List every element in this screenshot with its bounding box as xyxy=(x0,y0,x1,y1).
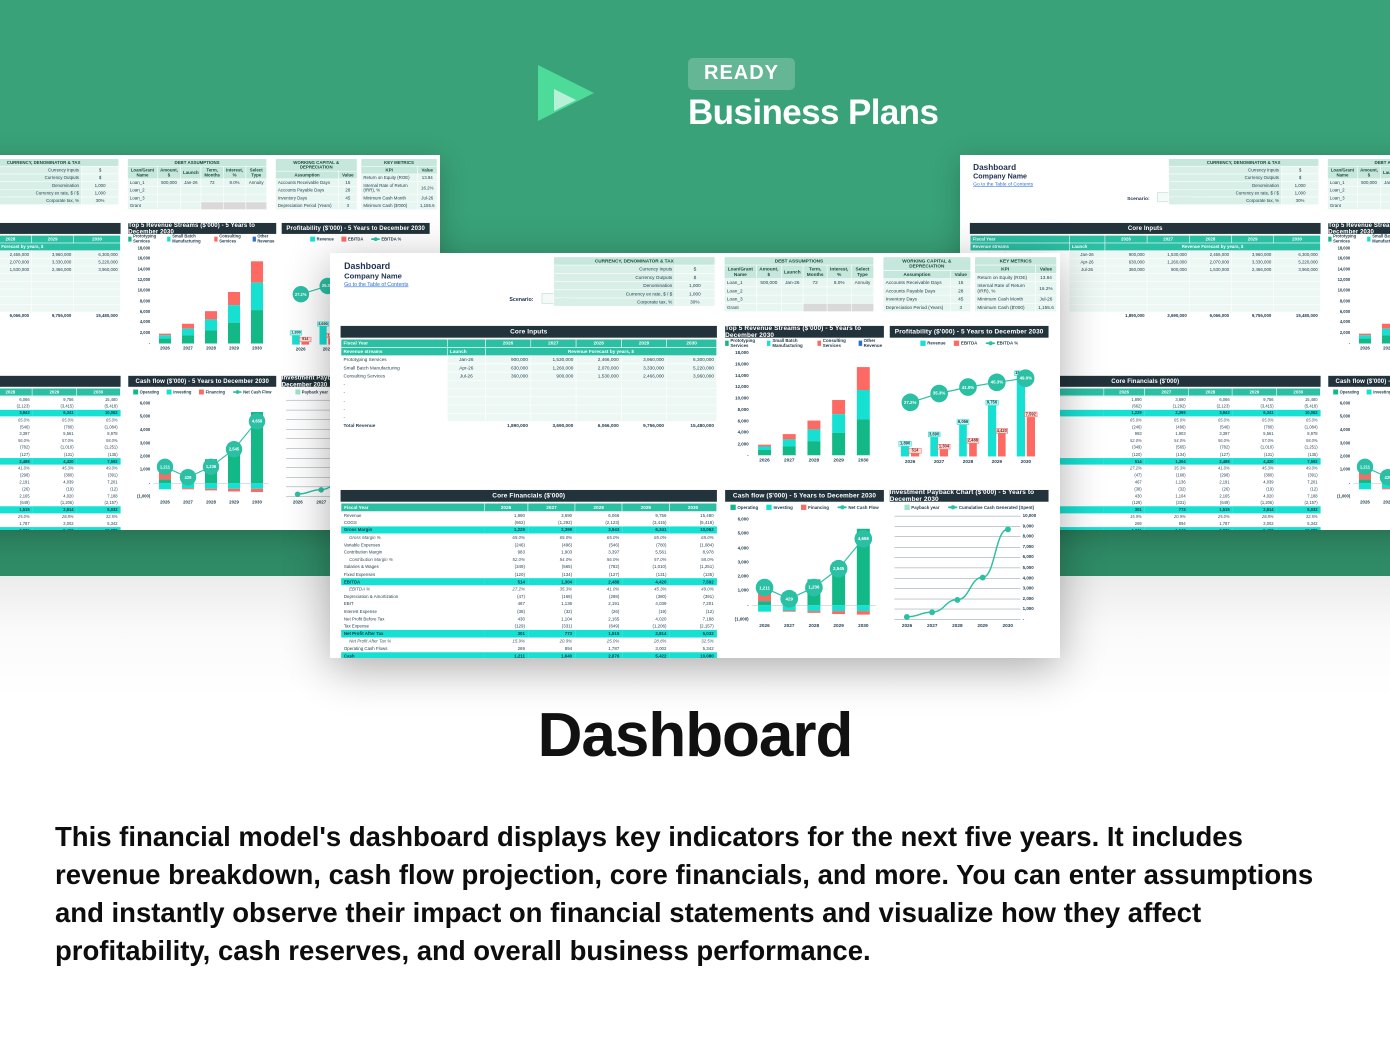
y-tick: 10,000 xyxy=(725,395,749,400)
section-top5-revenue: Top 5 Revenue Streams ($'000) - 5 Years … xyxy=(725,326,884,338)
data-point xyxy=(929,609,935,615)
financial-row: Contribution Margin %52.0%54.0%56.0%57.0… xyxy=(341,556,717,563)
bar-segment xyxy=(808,441,821,455)
bar-stack xyxy=(182,324,194,344)
ebitda-pct-label: 41.0% xyxy=(959,378,977,396)
financial-row: Depreciation & Amortization(47)(168)(298… xyxy=(0,472,120,479)
x-tick: 2026 xyxy=(752,623,777,628)
chart-top5-revenue[interactable]: Prototyping ServicesSmall Batch Manufact… xyxy=(1328,235,1390,372)
legend-item: Consulting Services xyxy=(818,338,851,349)
debt-table-header: Launch xyxy=(181,166,202,179)
chart-legend: RevenueEBITDAEBITDA % xyxy=(890,339,1049,347)
financial-row: Depreciation & Amortization(47)(168)(298… xyxy=(341,593,717,600)
working-capital-table-row: Accounts Payable Days28 xyxy=(275,187,357,195)
x-tick: 2026 xyxy=(1353,346,1376,351)
year-header: 2028 xyxy=(576,339,621,347)
legend-item: EBITDA xyxy=(341,236,363,241)
chart-legend: Prototyping ServicesSmall Batch Manufact… xyxy=(725,339,884,347)
working-capital-table-row: Accounts Receivable Days15 xyxy=(883,279,971,287)
financial-row: Contribution Margin9831,9033,3975,5618,9… xyxy=(0,430,120,437)
data-point xyxy=(295,491,300,496)
bar-stack xyxy=(857,367,870,455)
x-tick: 2029 xyxy=(223,500,246,505)
sheet-header: DashboardCompany NameGo to the Table of … xyxy=(0,155,440,220)
legend-item: EBITDA % xyxy=(986,340,1019,345)
legend-item: Prototyping Services xyxy=(1328,234,1359,244)
bar-stack xyxy=(1359,334,1371,344)
forecast-header: Revenue Forecast by years, $ xyxy=(485,347,716,355)
y-tick: 6,000 xyxy=(128,309,150,314)
year-header: 2029 xyxy=(32,235,74,243)
data-point xyxy=(904,614,910,620)
bar-segment xyxy=(1382,335,1390,343)
bar-segment xyxy=(182,335,194,343)
financial-row: Fixed Expenses(120)(134)(127)(131)(135) xyxy=(341,571,717,578)
legend-item: Financing xyxy=(199,389,225,394)
bar-segment xyxy=(159,339,171,344)
currency-table-row: Currency ex rate, $ / $1,000 xyxy=(1169,189,1319,197)
revenue-stream-row: - xyxy=(0,304,120,312)
chart-legend: OperatingInvestingFinancingNet Cash Flow xyxy=(128,388,276,396)
year-header: 2026 xyxy=(485,339,530,347)
year-header: 2027 xyxy=(528,503,575,511)
chart-cash-flow[interactable]: OperatingInvestingFinancingNet Cash Flow… xyxy=(128,388,276,525)
y-tick: 8,000 xyxy=(725,407,749,412)
financial-row: Fixed Expenses(120)(134)(127)(131)(135) xyxy=(0,451,120,458)
debt-table-title: DEBT ASSUMPTIONS xyxy=(1327,159,1390,167)
legend-item: Cumulative Cash Generated (Spent) xyxy=(948,504,1034,509)
x-axis: 20262027202820292030 xyxy=(752,458,875,463)
legend-item: Revenue xyxy=(310,236,334,241)
brand-title: Business Plans xyxy=(688,94,938,132)
x-tick: 2029 xyxy=(223,346,246,351)
x-tick: 2026 xyxy=(286,500,309,505)
x-tick: 2030 xyxy=(246,346,269,351)
section-cash-flow: Cash flow ($'000) - 5 Years to December … xyxy=(1328,376,1390,387)
revenue-stream-row: - xyxy=(341,413,717,421)
revenue-stream-row: - xyxy=(341,397,717,405)
revenue-stream-row: Prototyping ServicesJan-26900,0001,530,0… xyxy=(341,356,717,364)
debt-table-row: Loan_2 xyxy=(127,187,266,195)
working-capital-table: WORKING CAPITAL & DEPRECIATIONAssumption… xyxy=(275,158,357,210)
sheet-header: DashboardCompany NameGo to the Table of … xyxy=(330,253,1059,322)
key-metrics-table-row: Return on Equity (ROE)13.84 xyxy=(975,273,1057,281)
y-tick: 18,000 xyxy=(1328,245,1350,250)
currency-table-title: CURRENCY, DENOMINATOR & TAX xyxy=(0,159,119,167)
key-metrics-table-row: Internal Rate of Return (IRR), %16.2% xyxy=(361,182,437,195)
revenue-stream-row: - xyxy=(341,380,717,388)
x-tick: 2028 xyxy=(802,458,827,463)
brand-logo: READY Business Plans xyxy=(530,58,938,132)
x-tick: 2026 xyxy=(894,623,919,628)
y-tick: 16,000 xyxy=(725,361,749,366)
section-investment-payback: Investment Payback Chart ($'000) - 5 Yea… xyxy=(890,490,1049,502)
chart-legend: Prototyping ServicesSmall Batch Manufact… xyxy=(1328,235,1390,243)
chart-cash-flow[interactable]: OperatingInvestingFinancingNet Cash Flow… xyxy=(725,503,884,650)
revenue-stream-row: Consulting ServicesJul-26360,000900,0001… xyxy=(0,266,120,274)
section-core-inputs: Core Inputs xyxy=(970,223,1321,234)
y-tick: 4,000 xyxy=(128,320,150,325)
financial-row: EBIT4671,1362,1914,0397,201 xyxy=(341,600,717,607)
revenue-streams-header: Revenue streams xyxy=(341,347,447,355)
currency-table-row: Currency Inputs$ xyxy=(554,265,715,273)
y-tick: - xyxy=(725,452,749,457)
bar-segment xyxy=(832,400,845,414)
x-axis: 20262027202820292030 xyxy=(752,623,875,628)
data-point xyxy=(1005,526,1011,532)
x-tick: 2027 xyxy=(176,346,199,351)
bar-stack xyxy=(228,292,240,344)
y-tick: 2,000 xyxy=(725,441,749,446)
revenue-stream-row: Consulting ServicesJul-26360,000900,0001… xyxy=(341,372,717,380)
x-axis: 20262027202820292030 xyxy=(153,500,268,505)
financial-row: Net Profit After Tax %15.9%20.9%25.0%28.… xyxy=(341,637,717,644)
forecast-header: Revenue Forecast by years, $ xyxy=(1105,243,1321,251)
x-tick: 2030 xyxy=(851,458,876,463)
currency-table-title: CURRENCY, DENOMINATOR & TAX xyxy=(1169,159,1319,167)
x-tick: 2030 xyxy=(1011,459,1040,464)
x-tick: 2027 xyxy=(1376,500,1390,505)
working-capital-table-row: Depreciation Period (Years)3 xyxy=(883,303,971,311)
section-top5-revenue: Top 5 Revenue Streams ($'000) - 5 Years … xyxy=(128,223,276,234)
debt-table-header: Term, Months xyxy=(803,265,827,279)
x-tick: 2029 xyxy=(826,623,851,628)
bar-segment xyxy=(783,447,796,456)
legend-item: Consulting Services xyxy=(214,234,244,244)
y-tick: - xyxy=(1328,341,1350,346)
revenue-stream-row: Prototyping ServicesJan-26900,0001,530,0… xyxy=(0,251,120,259)
y-tick: 14,000 xyxy=(128,267,150,272)
bar-segment xyxy=(783,439,796,446)
working-capital-table-row: Accounts Receivable Days15 xyxy=(275,179,357,187)
x-tick: 2027 xyxy=(1376,346,1390,351)
currency-table-row: Currency Inputs$ xyxy=(0,166,119,174)
legend-item: Other Revenue xyxy=(253,234,277,244)
x-tick: 2030 xyxy=(851,623,876,628)
currency-table-row: Corporate tax, %30% xyxy=(0,197,119,205)
y-tick: 6,000 xyxy=(725,418,749,423)
x-tick: 2027 xyxy=(176,500,199,505)
total-revenue-row: Total Revenue1,890,0003,690,0006,066,000… xyxy=(0,312,120,320)
financial-row: Salaries & Wages(349)(565)(782)(1,010)(1… xyxy=(0,444,120,451)
toc-link[interactable]: Go to the Table of Contents xyxy=(973,181,1033,186)
ebitda-pct-label: 35.3% xyxy=(930,385,948,403)
currency-table-row: Currency ex rate, $ / $1,000 xyxy=(554,290,715,298)
sheet-header: DashboardCompany NameGo to the Table of … xyxy=(960,155,1390,220)
revenue-stream-row: Small Batch ManufacturingApr-26630,0001,… xyxy=(0,258,120,266)
working-capital-table-header: Value xyxy=(339,171,357,179)
y-tick: 10,000 xyxy=(128,288,150,293)
y-tick: 6,000 xyxy=(1328,309,1350,314)
net-cash-label: 429 xyxy=(1380,469,1390,485)
x-tick: 2029 xyxy=(826,458,851,463)
year-header: 2030 xyxy=(1274,235,1321,243)
launch-header: Launch xyxy=(1069,243,1104,251)
year-header: 2030 xyxy=(76,388,120,396)
year-header: 2028 xyxy=(0,388,32,396)
net-cash-label: 1,236 xyxy=(805,579,823,597)
legend-item: Operating xyxy=(133,389,159,394)
financial-row: Gross Margin1,2292,3993,9436,34110,062 xyxy=(0,410,120,417)
legend-item: Small Batch Manufacturing xyxy=(1367,234,1390,244)
financial-row: Cash1,2111,6402,8765,42210,080 xyxy=(0,527,120,530)
year-header: 2027 xyxy=(1144,388,1188,396)
section-core-inputs: Core Inputs xyxy=(341,326,717,338)
debt-table: DEBT ASSUMPTIONSLoan/Grant NameAmount, $… xyxy=(724,257,874,312)
fiscal-year-header: Fiscal Year xyxy=(341,339,447,347)
legend-item: Small Batch Manufacturing xyxy=(167,234,206,244)
revenue-stream-row: - xyxy=(0,274,120,282)
legend-item: Payback year xyxy=(904,504,939,509)
debt-table-row: Loan_1500,000Jan-26728.0%Annuity xyxy=(1327,179,1390,187)
x-axis: 20262027202820292030 xyxy=(1353,500,1390,505)
debt-table-header: Term, Months xyxy=(201,166,223,179)
year-header: 2028 xyxy=(1188,388,1232,396)
year-header: 2030 xyxy=(667,339,717,347)
bar-stack xyxy=(159,334,171,344)
financial-row: Net Profit After Tax %15.9%20.9%25.0%28.… xyxy=(0,513,120,520)
x-tick: 2027 xyxy=(920,623,945,628)
bar-segment xyxy=(205,319,217,330)
financial-row: Variable Expenses(246)(496)(546)(780)(1,… xyxy=(341,541,717,548)
y-tick: 12,000 xyxy=(128,277,150,282)
y-tick: 12,000 xyxy=(1328,277,1350,282)
debt-table-header: Interest, % xyxy=(827,265,851,279)
x-axis: 20262027202820292030 xyxy=(896,459,1041,464)
bar-segment xyxy=(182,329,194,336)
debt-table-row: Loan_3 xyxy=(127,194,266,202)
bar-segment xyxy=(808,430,821,442)
y-tick: 12,000 xyxy=(725,384,749,389)
bar-segment xyxy=(758,450,771,455)
debt-table-row: Grant xyxy=(724,303,873,311)
debt-table-title: DEBT ASSUMPTIONS xyxy=(724,257,873,265)
debt-table-header: Interest, % xyxy=(223,166,246,179)
debt-table-row: Loan_1500,000Jan-26728.0%Annuity xyxy=(724,279,873,287)
forecast-header: Revenue Forecast by years, $ xyxy=(0,243,120,251)
net-cash-flow-line xyxy=(1328,397,1390,509)
year-header: 2029 xyxy=(1232,235,1274,243)
debt-table-row: Loan_2 xyxy=(1327,187,1390,195)
debt-table-title: DEBT ASSUMPTIONS xyxy=(127,159,266,167)
section-profitability: Profitability ($'000) - 5 Years to Decem… xyxy=(282,223,430,234)
y-tick: 14,000 xyxy=(1328,267,1350,272)
financial-row: EBIT4671,1362,1914,0397,201 xyxy=(0,479,120,486)
legend-item: Payback year xyxy=(295,389,328,394)
bar-segment xyxy=(205,330,217,343)
financial-row: Interest Expense(38)(32)(26)(19)(12) xyxy=(0,486,120,493)
revenue-stream-row: - xyxy=(341,405,717,413)
legend-item: Investing xyxy=(167,389,192,394)
ready-badge: READY xyxy=(688,58,795,90)
revenue-stream-row: Small Batch ManufacturingApr-26630,0001,… xyxy=(341,364,717,372)
chart-top5-revenue[interactable]: Prototyping ServicesSmall Batch Manufact… xyxy=(725,339,884,486)
legend-item: Revenue xyxy=(920,340,945,345)
scenario-label: Scenario: xyxy=(509,297,533,303)
key-metrics-table-row: Minimum Cash MonthJul-26 xyxy=(361,194,437,202)
chart-profitability[interactable]: RevenueEBITDAEBITDA %1,8905143,6901,3046… xyxy=(890,339,1049,486)
currency-table-row: Denomination1,000 xyxy=(0,182,119,190)
fiscal-year-header: Fiscal Year xyxy=(341,503,484,511)
legend-item: Financing xyxy=(801,504,829,509)
section-core-inputs: Core Inputs xyxy=(0,223,121,234)
bar-stack xyxy=(832,400,845,455)
debt-table-row: Grant xyxy=(1327,202,1390,210)
x-tick: 2026 xyxy=(153,500,176,505)
chart-legend: Payback yearCumulative Cash Generated (S… xyxy=(890,503,1049,511)
toc-link[interactable]: Go to the Table of Contents xyxy=(344,281,408,287)
bar-segment xyxy=(1382,329,1390,336)
screenshot-panel-center[interactable]: DashboardCompany NameGo to the Table of … xyxy=(330,253,1060,658)
debt-table-header: Loan/Grant Name xyxy=(724,265,756,279)
sheet-title: Dashboard xyxy=(344,261,390,271)
legend-item: EBITDA xyxy=(954,340,977,345)
ebitda-pct-label: 27.2% xyxy=(901,394,919,412)
key-metrics-table-row: Minimum Cash ($'000)1,155.6 xyxy=(361,202,437,210)
financial-row: Net Profit After Tax3017731,5152,8145,03… xyxy=(341,630,717,637)
year-header: 2030 xyxy=(669,503,716,511)
y-tick: 4,000 xyxy=(1328,320,1350,325)
debt-table-row: Loan_3 xyxy=(724,295,873,303)
key-metrics-table: KEY METRICSKPIValueReturn on Equity (ROE… xyxy=(974,257,1056,312)
revenue-stream-row: - xyxy=(0,281,120,289)
x-axis: 20262027202820292030 xyxy=(894,623,1020,628)
financial-row: Net Profit Before Tax4301,1042,1654,0207… xyxy=(341,615,717,622)
bar-segment xyxy=(228,292,240,305)
spreadsheet-dashboard[interactable]: DashboardCompany NameGo to the Table of … xyxy=(330,253,1059,658)
core-financials-table: Fiscal Year20262027202820292030Revenue1,… xyxy=(341,503,717,658)
y-tick: 18,000 xyxy=(725,350,749,355)
bar-segment xyxy=(251,282,263,310)
section-cash-flow: Cash flow ($'000) - 5 Years to December … xyxy=(128,376,276,387)
net-cash-label: 2,545 xyxy=(830,560,848,578)
chart-top5-revenue[interactable]: Prototyping ServicesSmall Batch Manufact… xyxy=(128,235,276,372)
debt-table-header: Select Type xyxy=(246,166,267,179)
financial-row: Cash1,2111,6402,8765,42210,080 xyxy=(341,652,717,658)
legend-item: Net Cash Flow xyxy=(233,389,272,394)
debt-table-header: Loan/Grant Name xyxy=(1327,166,1357,179)
working-capital-table-title: WORKING CAPITAL & DEPRECIATION xyxy=(275,159,357,172)
key-metrics-table-title: KEY METRICS xyxy=(975,257,1057,265)
bar-segment xyxy=(857,367,870,390)
section-core-financials: Core Financials ($'000) xyxy=(0,376,121,387)
bar-segment xyxy=(228,323,240,344)
year-header: 2026 xyxy=(1104,388,1145,396)
y-tick: 8,000 xyxy=(1328,298,1350,303)
working-capital-table-header: Assumption xyxy=(275,171,338,179)
financial-row: EBITDA %27.2%35.3%41.0%45.3%49.0% xyxy=(341,585,717,592)
bar-segment xyxy=(857,419,870,455)
x-tick: 2028 xyxy=(945,623,970,628)
financial-row: EBITDA5141,3042,4884,4207,592 xyxy=(0,458,120,465)
debt-table-header: Amount, $ xyxy=(157,166,180,179)
debt-table-header: Amount, $ xyxy=(756,265,781,279)
x-axis: 20262027202820292030 xyxy=(1353,346,1390,351)
y-tick: 14,000 xyxy=(725,373,749,378)
bar-segment xyxy=(808,421,821,430)
net-cash-label: 4,658 xyxy=(854,530,872,548)
year-header: 2026 xyxy=(1105,235,1147,243)
cumulative-cash-line xyxy=(890,512,1049,632)
launch-header: Launch xyxy=(447,347,485,355)
data-point xyxy=(319,487,324,492)
currency-table-row: Denomination1,000 xyxy=(554,282,715,290)
debt-table-row: Loan_2 xyxy=(724,287,873,295)
debt-table-row: Loan_1500,000Jan-26728.0%Annuity xyxy=(127,179,266,187)
legend-item: Other Revenue xyxy=(858,338,883,349)
y-tick: 2,000 xyxy=(128,330,150,335)
chart-legend: OperatingInvestingFinancingNet Cash Flow xyxy=(725,503,884,511)
x-tick: 2028 xyxy=(199,500,222,505)
key-metrics-table-title: KEY METRICS xyxy=(361,159,437,167)
x-tick: 2026 xyxy=(153,346,176,351)
year-header: 2028 xyxy=(575,503,622,511)
bar-segment xyxy=(228,305,240,323)
bar-stack xyxy=(758,445,771,456)
financial-row: Contribution Margin9831,9033,3975,5618,9… xyxy=(341,548,717,555)
currency-table-row: Currency Inputs$ xyxy=(1169,166,1319,174)
currency-table-row: Currency Outputs$ xyxy=(554,273,715,281)
currency-table-row: Corporate tax, %30% xyxy=(554,298,715,306)
working-capital-table: WORKING CAPITAL & DEPRECIATIONAssumption… xyxy=(883,257,971,312)
y-tick: 8,000 xyxy=(128,298,150,303)
x-tick: 2026 xyxy=(287,347,314,352)
working-capital-table-row: Inventory Days45 xyxy=(275,194,357,202)
bar-stack xyxy=(783,434,796,455)
debt-table: DEBT ASSUMPTIONSLoan/Grant NameAmount, $… xyxy=(127,158,267,210)
financial-row: Tax Expense(129)(331)(649)(1,206)(2,157) xyxy=(341,623,717,630)
section-cash-flow: Cash flow ($'000) - 5 Years to December … xyxy=(725,490,884,502)
data-point xyxy=(954,597,960,603)
financial-row: Variable Expenses(246)(496)(546)(780)(1,… xyxy=(0,423,120,430)
key-metrics-table-row: Minimum Cash ($'000)1,155.6 xyxy=(975,303,1057,311)
key-metrics-table-header: Value xyxy=(1035,265,1056,273)
y-tick: - xyxy=(128,341,150,346)
x-tick: 2026 xyxy=(752,458,777,463)
x-tick: 2030 xyxy=(995,623,1020,628)
revenue-streams-header: Revenue streams xyxy=(970,243,1069,251)
working-capital-table-row: Depreciation Period (Years)3 xyxy=(275,202,357,210)
revenue-stream-row: - xyxy=(0,289,120,297)
financial-row: Gross Margin %65.0%65.0%65.0%65.0%65.0% xyxy=(341,534,717,541)
year-header: 2029 xyxy=(622,503,669,511)
bar-segment xyxy=(251,310,263,343)
legend-item: Prototyping Services xyxy=(128,234,159,244)
currency-table: CURRENCY, DENOMINATOR & TAXCurrency Inpu… xyxy=(1168,158,1319,205)
x-tick: 2026 xyxy=(896,459,925,464)
year-header: 2026 xyxy=(484,503,528,511)
y-tick: 18,000 xyxy=(128,245,150,250)
financial-row: Revenue1,8903,6906,0669,75615,480 xyxy=(341,511,717,518)
chart-legend: Prototyping ServicesSmall Batch Manufact… xyxy=(128,235,276,243)
core-inputs-table: Fiscal Year20262027202820292030Revenue s… xyxy=(341,339,717,430)
legend-item: Investing xyxy=(766,504,792,509)
fiscal-year-header: Fiscal Year xyxy=(970,235,1069,243)
year-header: 2030 xyxy=(1276,388,1320,396)
working-capital-table-header: Value xyxy=(951,270,971,278)
year-header: 2027 xyxy=(531,339,576,347)
section-profitability: Profitability ($'000) - 5 Years to Decem… xyxy=(890,326,1049,338)
x-tick: 2028 xyxy=(802,623,827,628)
chart-investment-payback[interactable]: Payback yearCumulative Cash Generated (S… xyxy=(890,503,1049,650)
chart-cash-flow[interactable]: OperatingInvestingFinancingNet Cash Flow… xyxy=(1328,388,1390,525)
financial-row: Tax Expense(129)(331)(649)(1,206)(2,157) xyxy=(0,499,120,506)
key-metrics-table-row: Internal Rate of Return (IRR), %16.2% xyxy=(975,282,1057,296)
financial-row: Operating Cash Flows2698941,7873,0025,34… xyxy=(341,645,717,652)
x-tick: 2029 xyxy=(970,623,995,628)
financial-row: EBITDA %27.2%35.3%41.0%45.3%49.0% xyxy=(0,465,120,472)
year-header: 2029 xyxy=(32,388,76,396)
